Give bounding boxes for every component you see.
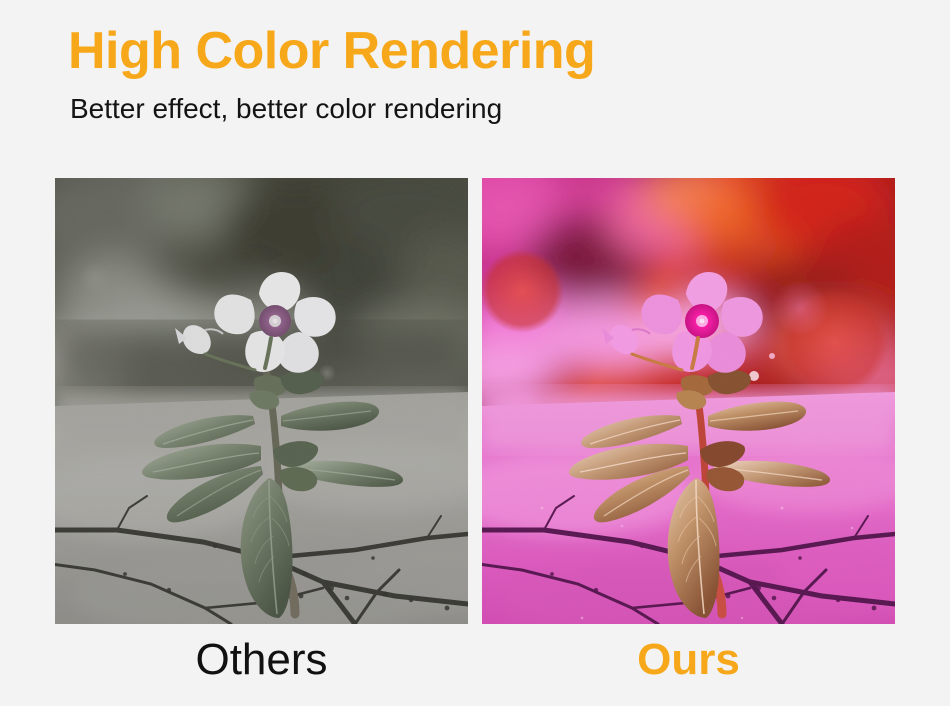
caption-ours: Ours [482,632,895,694]
page-subtitle: Better effect, better color rendering [70,92,868,126]
slide-root: High Color Rendering Better effect, bett… [0,0,950,706]
photo-others [55,178,468,624]
photo-ours [482,178,895,624]
comparison-gallery [55,178,895,624]
comparison-panel-ours [482,178,895,624]
caption-row: Others Ours [55,632,895,694]
page-title: High Color Rendering [68,22,868,80]
caption-others: Others [55,632,468,694]
comparison-panel-others [55,178,468,624]
header: High Color Rendering Better effect, bett… [68,22,868,126]
